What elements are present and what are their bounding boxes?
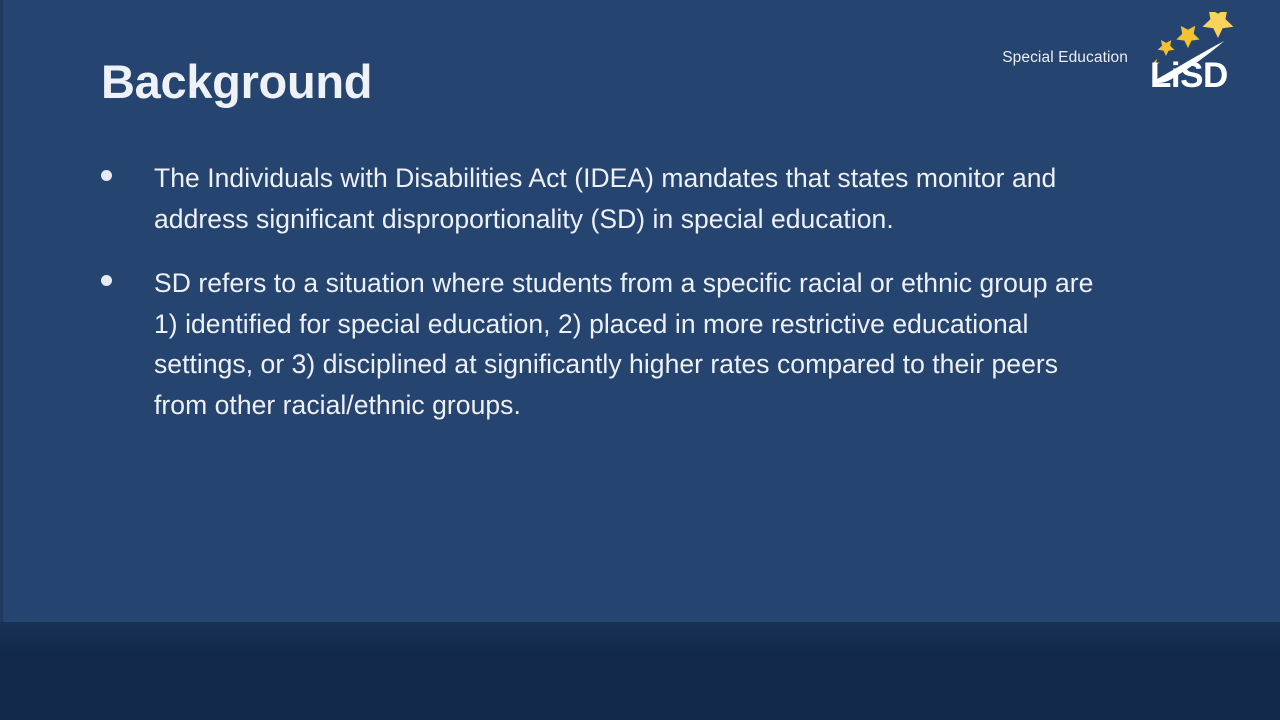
band-sheen (0, 622, 1280, 652)
logo-wordmark: LiSD (1150, 58, 1246, 93)
lisd-logo: LiSD (1150, 12, 1246, 98)
bullet-point-icon (101, 170, 112, 181)
slide-canvas: Special Education LiSD (0, 0, 1280, 622)
bullet-text: The Individuals with Disabilities Act (I… (154, 158, 1111, 239)
bullet-text: SD refers to a situation where students … (154, 263, 1111, 425)
slide-body-content: The Individuals with Disabilities Act (I… (101, 158, 1111, 425)
slide-left-edge-strip (0, 0, 3, 622)
star-large-icon (1203, 12, 1234, 38)
brand-tagline: Special Education (1002, 50, 1128, 66)
slide-header-brand: Special Education LiSD (1002, 12, 1246, 98)
bullet-point-icon (101, 275, 112, 286)
page-title: Background (101, 57, 372, 108)
bottom-letterbox-band (0, 622, 1280, 720)
presentation-viewport: Special Education LiSD (0, 0, 1280, 720)
star-small-icon (1158, 40, 1175, 56)
star-medium-icon (1176, 26, 1199, 48)
list-item: SD refers to a situation where students … (101, 263, 1111, 425)
list-item: The Individuals with Disabilities Act (I… (101, 158, 1111, 239)
